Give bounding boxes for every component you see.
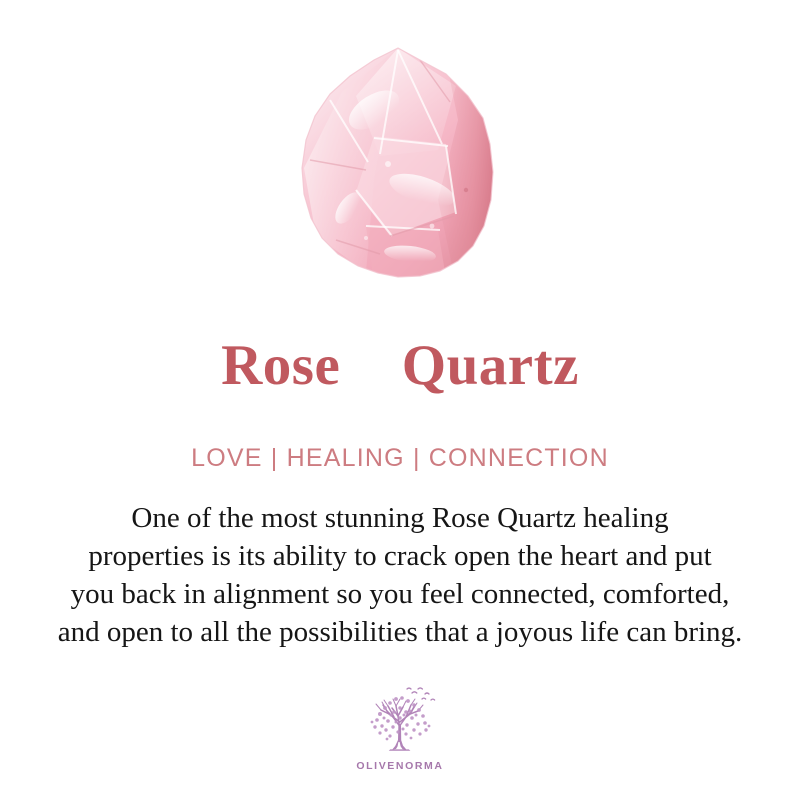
keyword-subtitle: LOVE | HEALING | CONNECTION bbox=[0, 443, 800, 473]
page-title: Rose Quartz bbox=[0, 335, 800, 397]
crystal-image-container bbox=[0, 40, 800, 290]
description-line: One of the most stunning Rose Quartz hea… bbox=[30, 499, 770, 537]
brand-name: OLIVENORMA bbox=[0, 760, 800, 772]
description-line: and open to all the possibilities that a… bbox=[30, 613, 770, 651]
description-line: you back in alignment so you feel connec… bbox=[30, 575, 770, 613]
rose-quartz-crystal-image bbox=[270, 40, 530, 290]
description-text: One of the most stunning Rose Quartz hea… bbox=[30, 499, 770, 651]
brand-logo: OLIVENORMA bbox=[0, 684, 800, 772]
description-line: properties is its ability to crack open … bbox=[30, 537, 770, 575]
birds-icon bbox=[407, 688, 435, 700]
rose-quartz-info-card: Rose Quartz LOVE | HEALING | CONNECTION … bbox=[0, 0, 800, 800]
crystal-facets bbox=[304, 48, 506, 284]
tree-of-life-icon bbox=[360, 684, 440, 758]
